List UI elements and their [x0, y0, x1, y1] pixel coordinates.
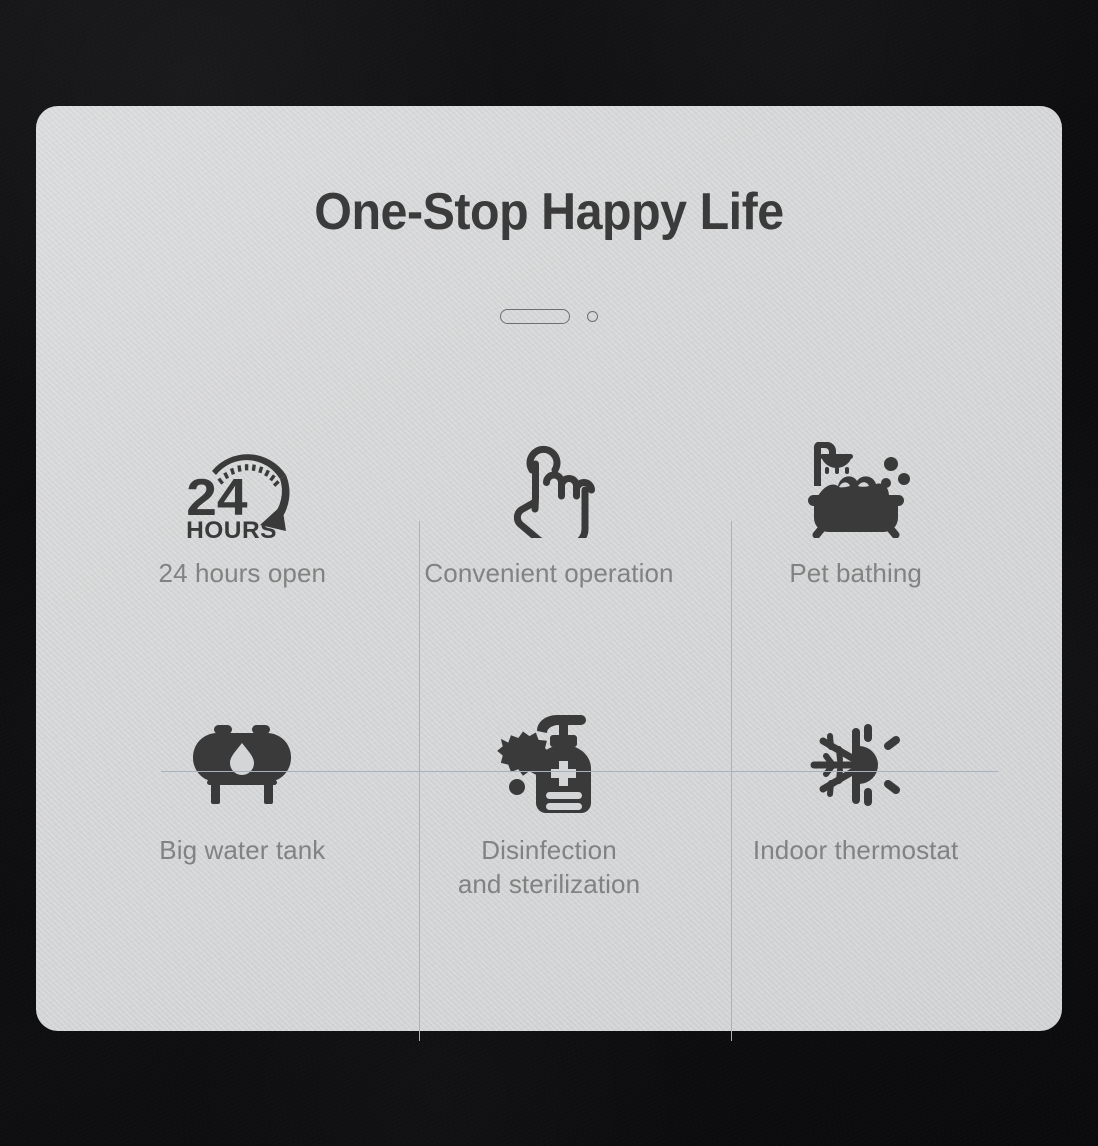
feature-item-convenient-operation[interactable]: Convenient operation: [396, 406, 703, 679]
grid-divider-vertical-1: [419, 521, 420, 1041]
circle-outline-icon: [587, 311, 598, 322]
page-title: One-Stop Happy Life: [72, 182, 1026, 242]
feature-label: 24 hours open: [159, 556, 327, 590]
icon-container: [190, 679, 294, 829]
water-tank-icon: [190, 723, 294, 807]
icon-container: [493, 679, 605, 829]
feature-label: Pet bathing: [789, 556, 922, 590]
feature-label: Disinfection and sterilization: [458, 833, 640, 902]
feature-item-24-hours-open[interactable]: 24 HOURS 24 hours open: [89, 406, 396, 679]
feature-item-pet-bathing[interactable]: Pet bathing: [702, 406, 1009, 679]
feature-card: One-Stop Happy Life: [36, 106, 1062, 1031]
feature-label: Indoor thermostat: [753, 833, 958, 867]
feature-label: Convenient operation: [424, 556, 673, 590]
sanitizer-germ-icon: [493, 713, 605, 817]
icon-container: 24 HOURS: [182, 406, 302, 556]
icon-container: [501, 406, 597, 556]
pill-outline-icon: [500, 309, 570, 324]
feature-item-disinfection[interactable]: Disinfection and sterilization: [396, 679, 703, 952]
icon-container: [806, 679, 906, 829]
snowflake-sun-icon: [806, 716, 906, 814]
grid-divider-horizontal: [161, 771, 998, 772]
pet-bathtub-icon: [800, 434, 912, 538]
title-ornament: [36, 309, 1062, 324]
24-hours-icon: 24 HOURS: [182, 431, 302, 541]
feature-grid: 24 HOURS 24 hours open: [89, 406, 1009, 951]
tap-hand-icon: [501, 434, 597, 538]
feature-label: Big water tank: [159, 833, 325, 867]
hours-word-text: HOURS: [186, 517, 277, 541]
feature-item-big-water-tank[interactable]: Big water tank: [89, 679, 396, 952]
feature-item-indoor-thermostat[interactable]: Indoor thermostat: [702, 679, 1009, 952]
grid-divider-vertical-2: [731, 521, 732, 1041]
icon-container: [800, 406, 912, 556]
